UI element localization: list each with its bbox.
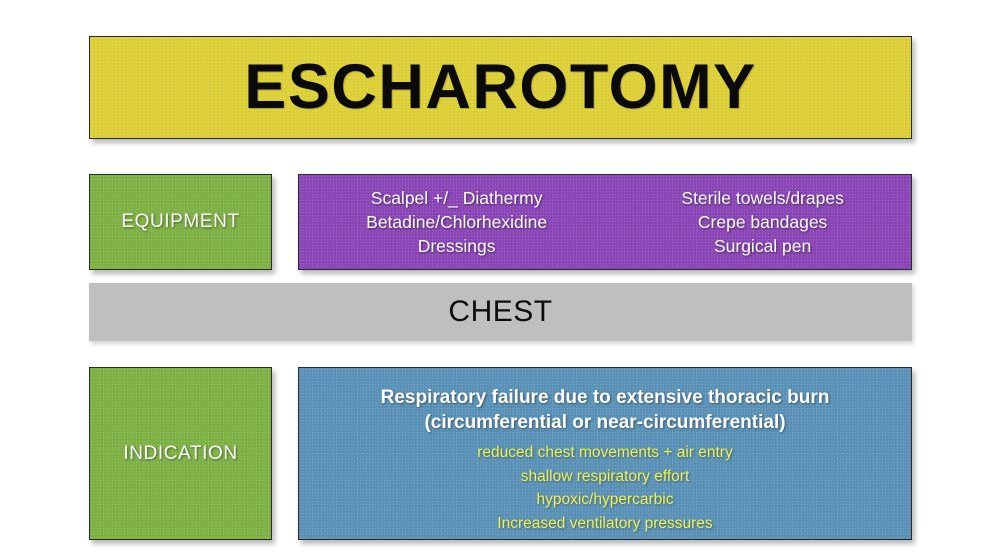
- indication-headline: Respiratory failure due to extensive tho…: [381, 385, 830, 410]
- page-title: ESCHAROTOMY: [244, 56, 756, 119]
- indication-subheadline: (circumferential or near-circumferential…: [424, 410, 785, 435]
- equipment-item: Surgical pen: [714, 234, 811, 258]
- equipment-item: Crepe bandages: [698, 210, 827, 234]
- equipment-item: Sterile towels/drapes: [681, 186, 843, 210]
- indication-bullet-list: reduced chest movements + air entry shal…: [477, 441, 732, 535]
- equipment-label-text: EQUIPMENT: [121, 211, 239, 233]
- equipment-item: Scalpel +/_ Diathermy: [371, 186, 543, 210]
- indication-bullet: Increased ventilatory pressures: [497, 512, 712, 536]
- region-band: CHEST: [89, 283, 912, 341]
- region-label-text: CHEST: [448, 295, 552, 329]
- equipment-item: Dressings: [418, 234, 496, 258]
- title-banner: ESCHAROTOMY: [89, 36, 912, 139]
- indication-label-text: INDICATION: [123, 443, 237, 465]
- equipment-column-right: Sterile towels/drapes Crepe bandages Sur…: [681, 186, 843, 258]
- equipment-content-panel: Scalpel +/_ Diathermy Betadine/Chlorhexi…: [298, 174, 912, 270]
- equipment-label-box: EQUIPMENT: [89, 174, 272, 270]
- equipment-item: Betadine/Chlorhexidine: [366, 210, 547, 234]
- indication-bullet: shallow respiratory effort: [521, 465, 690, 489]
- indication-bullet: reduced chest movements + air entry: [477, 441, 732, 465]
- slide-canvas: ESCHAROTOMY EQUIPMENT Scalpel +/_ Diathe…: [0, 0, 1000, 552]
- indication-text-group: Respiratory failure due to extensive tho…: [299, 385, 911, 535]
- indication-bullet: hypoxic/hypercarbic: [537, 488, 674, 512]
- equipment-column-left: Scalpel +/_ Diathermy Betadine/Chlorhexi…: [366, 186, 547, 258]
- indication-label-box: INDICATION: [89, 367, 272, 540]
- indication-content-panel: Respiratory failure due to extensive tho…: [298, 367, 912, 540]
